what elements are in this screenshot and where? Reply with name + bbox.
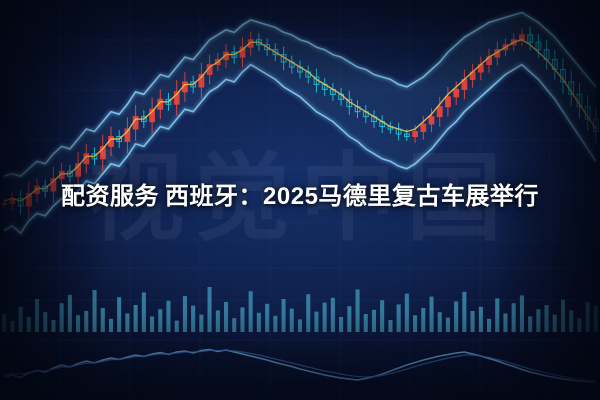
caption-headline: 配资服务西班牙：2025马德里复古车展举行 xyxy=(0,176,600,211)
caption-title: 西班牙：2025马德里复古车展举行 xyxy=(165,183,539,210)
stock-chart-image: 视觉中国 配资服务西班牙：2025马德里复古车展举行 xyxy=(0,0,600,400)
caption-lead: 配资服务 xyxy=(61,183,159,210)
